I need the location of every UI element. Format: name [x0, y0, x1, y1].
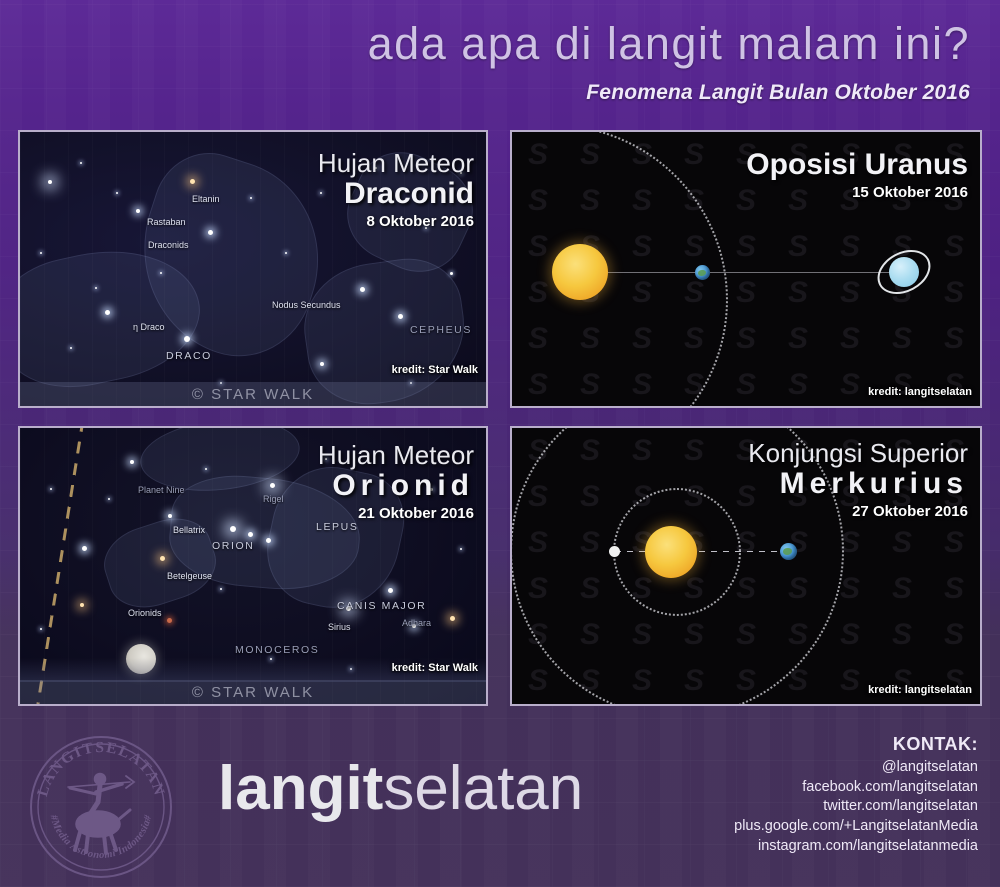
star-chart-draconid: Eltanin Rastaban Draconids Nodus Secundu…: [20, 132, 486, 406]
star: [450, 616, 455, 621]
sky-label: Eltanin: [192, 194, 220, 204]
panel-title-line1: Konjungsi Superior: [748, 440, 968, 467]
wordmark-light: selatan: [383, 754, 583, 823]
star-eta-draco: [105, 310, 110, 315]
panel-title-line1: Hujan Meteor: [318, 150, 474, 177]
header: ada apa di langit malam ini? Fenomena La…: [0, 0, 1000, 126]
panel-credit: kredit: Star Walk: [392, 662, 478, 674]
sky-label: Rastaban: [147, 217, 186, 227]
page-title: ada apa di langit malam ini?: [0, 21, 970, 66]
star: [450, 272, 453, 275]
sky-label-constellation: MONOCEROS: [235, 644, 319, 656]
opposition-sightline: [602, 272, 902, 273]
panel-title-merkurius: Konjungsi Superior Merkurius 27 Oktober …: [748, 440, 968, 520]
panel-credit: kredit: langitselatan: [868, 684, 972, 696]
panel-date: 27 Oktober 2016: [748, 503, 968, 520]
star-chart-orionid: Planet Nine Rigel Bellatrix ORION LEPUS …: [20, 428, 486, 704]
star: [160, 272, 162, 274]
star-betelgeuse: [160, 556, 165, 561]
sky-label: Draconids: [148, 240, 189, 250]
panel-title-orionid: Hujan Meteor Orionid 21 Oktober 2016: [318, 442, 474, 522]
brand-wordmark: langitselatan: [218, 758, 583, 820]
sky-label: Rigel: [263, 494, 284, 504]
contact-heading: KONTAK:: [734, 734, 978, 755]
panel-credit: kredit: Star Walk: [392, 364, 478, 376]
panel-date: 15 Oktober 2016: [746, 184, 968, 201]
sky-label: Nodus Secundus: [272, 300, 341, 310]
contact-googleplus[interactable]: plus.google.com/+LangitselatanMedia: [734, 817, 978, 837]
sky-label-constellation: CEPHEUS: [410, 324, 472, 336]
star: [116, 192, 118, 194]
contact-handle[interactable]: @langitselatan: [734, 758, 978, 778]
sun: [645, 526, 697, 578]
star-rigel: [270, 483, 275, 488]
panel-grid: Eltanin Rastaban Draconids Nodus Secundu…: [18, 130, 982, 706]
star: [388, 588, 393, 593]
star-eltanin: [190, 179, 195, 184]
star: [108, 498, 110, 500]
contact-block: KONTAK: @langitselatan facebook.com/lang…: [734, 734, 978, 857]
star: [460, 548, 462, 550]
star-bellatrix: [168, 514, 172, 518]
panel-draconid[interactable]: Eltanin Rastaban Draconids Nodus Secundu…: [18, 130, 488, 408]
star-nodus-secundus: [360, 287, 365, 292]
sky-label: η Draco: [133, 322, 165, 332]
star: [320, 362, 324, 366]
page-subtitle: Fenomena Langit Bulan Oktober 2016: [0, 81, 970, 105]
panel-title-line2: Draconid: [318, 178, 474, 210]
conjunction-sightline: [615, 551, 791, 552]
sky-label: Bellatrix: [173, 525, 205, 535]
star: [40, 628, 42, 630]
panel-title-uranus: Oposisi Uranus 15 Oktober 2016: [746, 148, 968, 201]
sky-label: Planet Nine: [138, 485, 185, 495]
star: [48, 180, 52, 184]
earth: [780, 543, 797, 560]
sky-label-constellation: DRACO: [166, 350, 212, 362]
star: [230, 526, 236, 532]
panel-orionid[interactable]: Planet Nine Rigel Bellatrix ORION LEPUS …: [18, 426, 488, 706]
star: [82, 546, 87, 551]
contact-twitter[interactable]: twitter.com/langitselatan: [734, 797, 978, 817]
star: [130, 460, 134, 464]
contact-facebook[interactable]: facebook.com/langitselatan: [734, 778, 978, 798]
sky-label: Orionids: [128, 608, 162, 618]
panel-uranus[interactable]: SSSSSSSSS SSSSSSSSS SSSSSSSSS SSSSSSSSS …: [510, 130, 982, 408]
panel-title-draconid: Hujan Meteor Draconid 8 Oktober 2016: [318, 150, 474, 230]
star: [80, 162, 82, 164]
star: [80, 603, 84, 607]
star: [220, 588, 222, 590]
starwalk-watermark: © STAR WALK: [20, 382, 486, 406]
langitselatan-logo: LANGITSELATAN #Media Astronomi Indonesia…: [26, 732, 176, 882]
earth: [695, 265, 710, 280]
star: [40, 252, 42, 254]
star: [248, 532, 253, 537]
star: [285, 252, 287, 254]
orbit-diagram-merkurius: SSSSSSSSS SSSSSSSSS SSSSSSSSS SSSSSSSSS …: [512, 428, 980, 704]
star: [208, 230, 213, 235]
wordmark-bold: langit: [218, 754, 383, 823]
star: [205, 468, 207, 470]
sky-label: Betelgeuse: [167, 571, 212, 581]
star: [266, 538, 271, 543]
panel-date: 8 Oktober 2016: [318, 213, 474, 230]
star: [398, 314, 403, 319]
contact-instagram[interactable]: instagram.com/langitselatanmedia: [734, 837, 978, 857]
panel-title-line2: Orionid: [318, 470, 474, 502]
panel-title-line1: Oposisi Uranus: [746, 149, 968, 181]
star: [250, 197, 252, 199]
starwalk-watermark: © STAR WALK: [20, 680, 486, 704]
sky-label: Sirius: [328, 622, 351, 632]
panel-merkurius[interactable]: SSSSSSSSS SSSSSSSSS SSSSSSSSS SSSSSSSSS …: [510, 426, 982, 706]
star: [70, 347, 72, 349]
orbit-diagram-uranus: SSSSSSSSS SSSSSSSSS SSSSSSSSS SSSSSSSSS …: [512, 132, 980, 406]
sky-label-constellation: LEPUS: [316, 521, 358, 533]
star: [167, 618, 172, 623]
panel-title-line1: Hujan Meteor: [318, 442, 474, 469]
sky-label-constellation: CANIS MAJOR: [337, 600, 426, 612]
panel-title-line2: Merkurius: [748, 468, 968, 500]
mercury: [609, 546, 620, 557]
star-rastaban: [136, 209, 140, 213]
sky-label-constellation: ORION: [212, 540, 254, 552]
sun: [552, 244, 608, 300]
footer: LANGITSELATAN #Media Astronomi Indonesia…: [0, 720, 1000, 887]
star: [50, 488, 52, 490]
panel-credit: kredit: langitselatan: [868, 386, 972, 398]
star: [95, 287, 97, 289]
sky-label: Adhara: [402, 618, 431, 628]
star: [184, 336, 190, 342]
panel-date: 21 Oktober 2016: [318, 505, 474, 522]
